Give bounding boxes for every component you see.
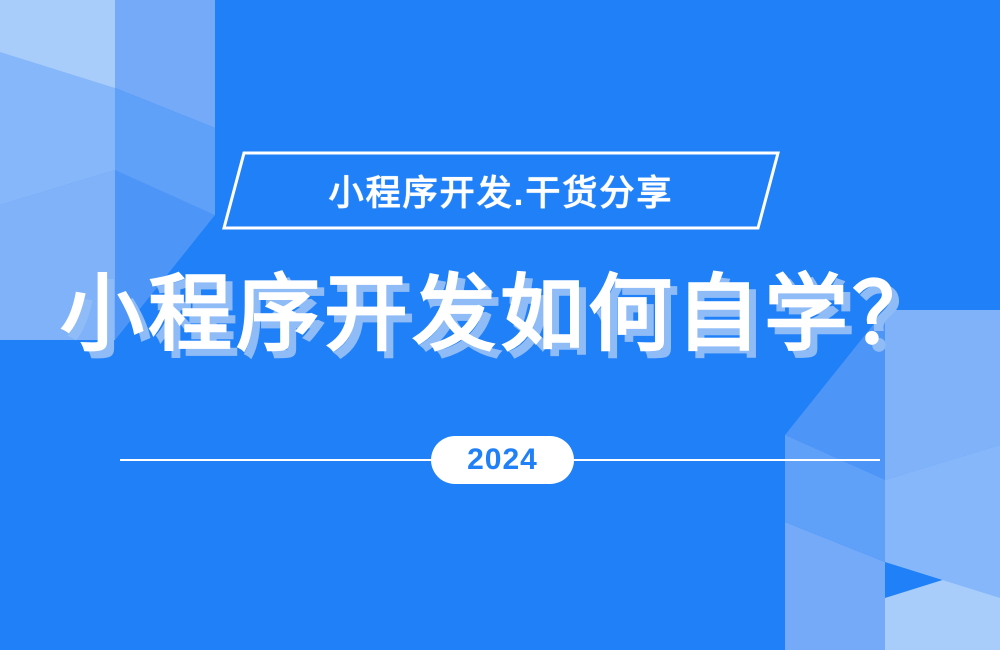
year-rule-left (120, 459, 431, 461)
poster-banner: 小程序开发.干货分享 小程序开发如何自学？ 2024 (0, 0, 1000, 650)
year-row: 2024 (0, 436, 1000, 484)
subtitle-text: 小程序开发.干货分享 (222, 151, 780, 230)
page-title: 小程序开发如何自学？ (0, 266, 1000, 362)
year-badge: 2024 (431, 436, 574, 484)
subtitle-banner: 小程序开发.干货分享 (222, 151, 780, 230)
year-rule-right (574, 459, 880, 461)
